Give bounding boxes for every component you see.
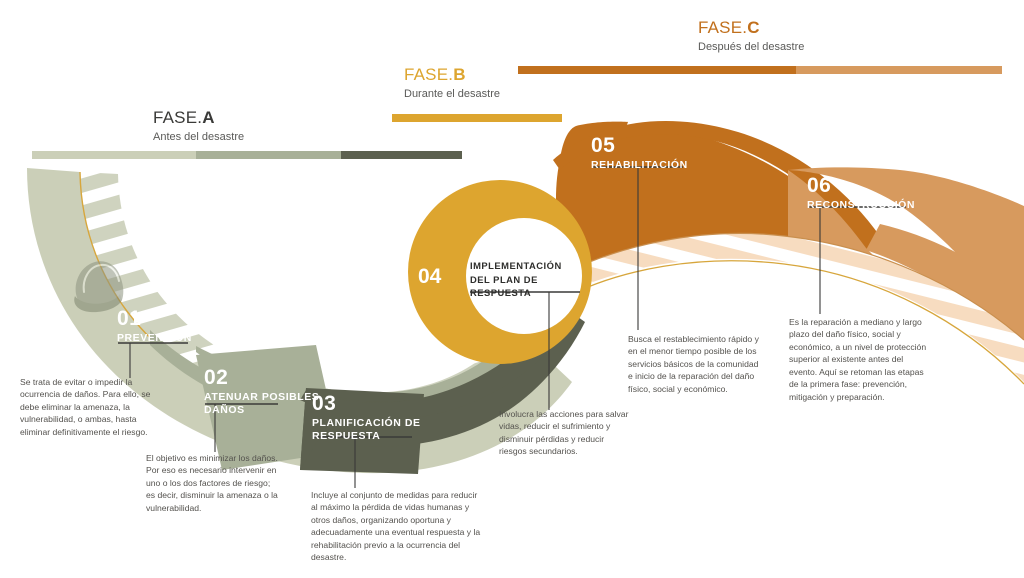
phase-B-label-lite: FASE.	[404, 65, 453, 84]
infographic-canvas: FASE.A Antes del desastre FASE.B Durante…	[0, 0, 1024, 578]
phase-A-bar-seg-2	[196, 151, 341, 159]
phase-C-bar	[518, 66, 1002, 74]
step-03-name: PLANIFICACIÓN DE RESPUESTA	[312, 417, 452, 443]
step-02-description: El objetivo es minimizar los daños. Por …	[146, 452, 278, 514]
step-01-name: PREVENCIÓN	[117, 332, 247, 345]
step-05-name: REHABILITACIÓN	[591, 159, 731, 172]
phase-A-label-bold: A	[202, 108, 214, 127]
step-06-description: Es la reparación a mediano y largo plazo…	[789, 316, 932, 403]
step-label-01: 01 PREVENCIÓN	[117, 308, 247, 345]
step-06-name: RECONSTRUCCIÓN	[807, 199, 957, 212]
phase-B-subtitle: Durante el desastre	[404, 88, 500, 100]
phase-C-subtitle: Después del desastre	[698, 41, 804, 53]
step-01-description: Se trata de evitar o impedir la ocurrenc…	[20, 376, 156, 438]
step-04-description: Involucra las acciones para salvar vidas…	[499, 408, 634, 458]
hub-ring-04	[408, 180, 592, 364]
phase-A-label-lite: FASE.	[153, 108, 202, 127]
phase-header-B: FASE.B Durante el desastre	[404, 65, 500, 100]
step-05-description: Busca el restablecimiento rápido y en el…	[628, 333, 763, 395]
step-05-number: 05	[591, 135, 731, 156]
step-label-03: 03 PLANIFICACIÓN DE RESPUESTA	[312, 393, 452, 443]
step-03-description: Incluye al conjunto de medidas para redu…	[311, 489, 486, 564]
phase-A-bar	[32, 151, 462, 159]
step-02-number: 02	[204, 367, 354, 388]
step-01-number: 01	[117, 308, 247, 329]
phase-C-label-bold: C	[747, 18, 759, 37]
phase-header-A: FASE.A Antes del desastre	[153, 108, 244, 143]
step-06-number: 06	[807, 175, 957, 196]
step-03-number: 03	[312, 393, 452, 414]
phase-A-bar-seg-3	[341, 151, 462, 159]
phase-C-bar-seg-2	[796, 66, 1002, 74]
phase-A-subtitle: Antes del desastre	[153, 131, 244, 143]
phase-C-label-lite: FASE.	[698, 18, 747, 37]
step-label-05: 05 REHABILITACIÓN	[591, 135, 731, 172]
step-label-06: 06 RECONSTRUCCIÓN	[807, 175, 957, 212]
phase-A-bar-seg-1	[32, 151, 196, 159]
phase-B-label-bold: B	[453, 65, 465, 84]
phase-header-C: FASE.C Después del desastre	[698, 18, 804, 53]
phase-C-bar-seg-1	[518, 66, 796, 74]
phase-B-bar	[392, 114, 562, 122]
